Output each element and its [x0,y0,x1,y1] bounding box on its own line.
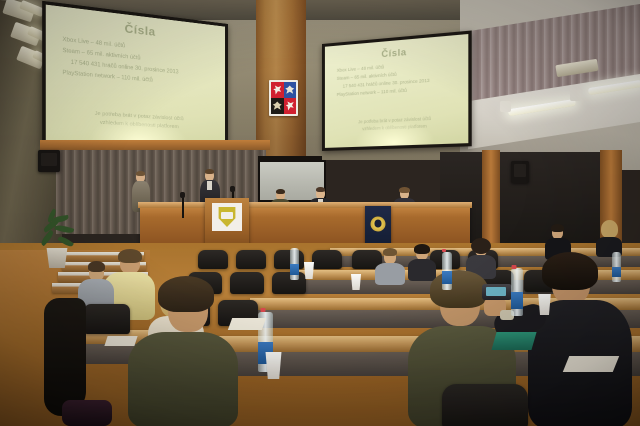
panel-hair [276,189,285,194]
bottle-label [511,292,523,309]
wall-speaker-left [38,150,60,172]
water-bottle-right [511,268,523,316]
attendee-dark-hair-row3 [408,246,436,280]
microphone-stand [182,196,184,218]
attendee-woman-rear-right [596,222,622,256]
right-wood-pillar-1 [482,150,500,250]
chair-front-left [84,304,130,334]
panel-hair [316,187,325,192]
speaker-hair [205,169,214,174]
attendee-torso [375,263,405,285]
attendee-hair [158,276,214,312]
bottle-cap [512,265,517,269]
tube-holder-2 [570,90,581,101]
chair [236,250,266,269]
right-projection-screen: Čísla Xbox Live – 48 mil. účtů Steam – 6… [322,30,472,151]
attendee-hair-blonde [601,220,618,238]
slide-bullets-right: Xbox Live – 48 mil. účtů Steam – 65 mil.… [325,57,468,100]
panel-desk-top [138,202,472,208]
speaker-hair [136,171,145,176]
attendee-hair [88,261,105,272]
wall-speaker-right [511,161,529,183]
chair-front-center [442,384,528,426]
microphone-head [180,192,185,198]
attendee-hair [118,249,142,263]
attendee-hair [430,270,488,308]
lecture-hall-photograph: Čísla Xbox Live – 48 mil. účtů Steam – 6… [0,0,640,426]
coa-quarter-silesia-eagle [271,98,284,114]
attendee-hair-curly [471,238,491,254]
attendee-hair [542,252,598,290]
paper-sheet [104,336,137,346]
camera-screen [486,287,506,296]
left-projection-screen: Čísla Xbox Live – 48 mil. účtů Steam – 6… [42,1,228,154]
microphone-head-podium [230,186,235,192]
bottle-label [612,267,621,277]
panel-hair [399,187,410,193]
coat-on-chair [44,298,86,416]
bottle-label [290,264,299,275]
coa-quarter-bohemia-lion [271,82,284,98]
coa-quarter-bohemia-lion-2 [284,98,297,114]
water-bottle-far [612,252,621,282]
bottle-label [442,271,452,284]
attendee-hair [551,224,564,232]
chair [198,250,228,269]
attendee-grey-shirt-rear [375,250,405,284]
attendee-torso-uniform [128,332,238,426]
attendee-hair [414,244,430,254]
paper-sheet [563,356,619,372]
panel-desk [140,205,470,245]
attendee-olive-uniform-front [128,280,238,426]
chair [272,272,306,294]
bag-on-floor [62,400,112,426]
paper-sheet [228,318,266,330]
tube-holder-1 [500,101,511,112]
projector-hotspot-right [355,119,435,148]
czech-republic-coat-of-arms [269,80,298,116]
attendee-hair [383,248,397,256]
coa-quarter-moravia-eagle [284,82,297,98]
bottle-cap [442,249,446,252]
stage-wood-trim [40,140,270,150]
speaker-shirt [207,181,212,190]
water-bottle-mid [442,252,452,290]
water-bottle-back [290,248,299,280]
podium-crest [212,203,242,231]
banner-gold-emblem [371,216,386,231]
green-folder [491,332,536,350]
chair [274,250,304,269]
bottle-cap [261,308,266,312]
chair [312,250,342,269]
